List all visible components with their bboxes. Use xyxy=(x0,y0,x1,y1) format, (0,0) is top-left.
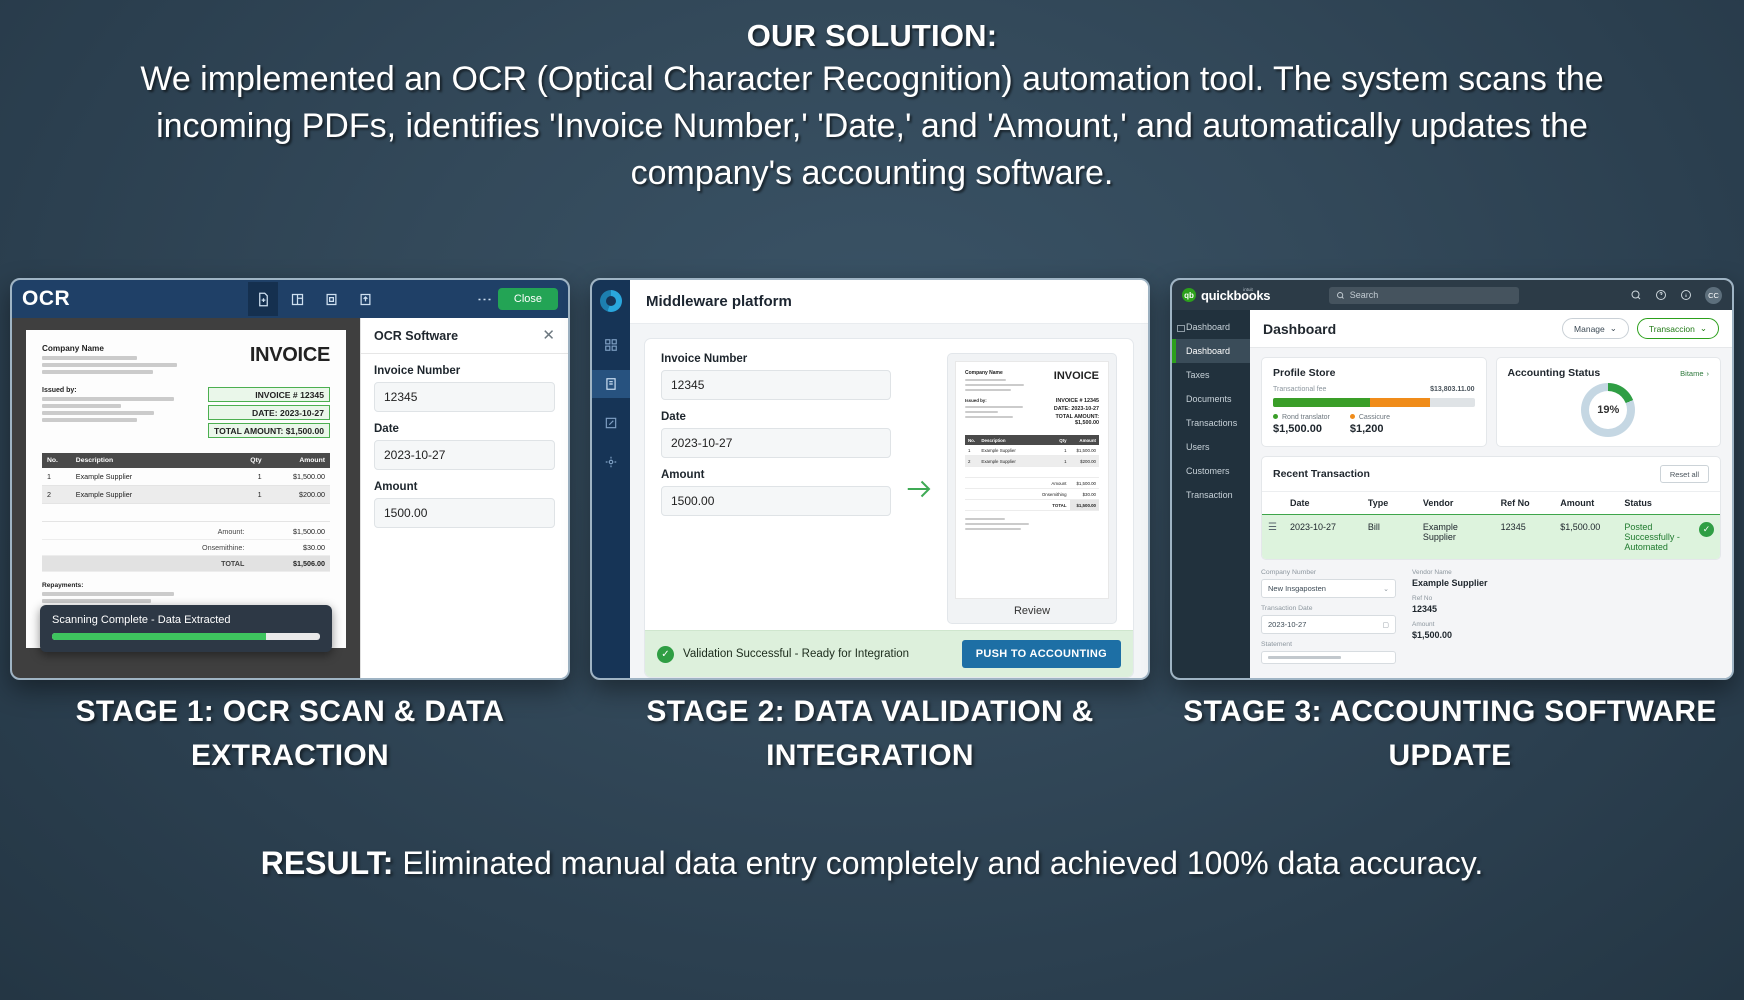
date-input[interactable]: 2023-10-27 xyxy=(374,440,555,470)
total-value: $1,500.00 xyxy=(1070,478,1099,489)
more-options-icon[interactable]: ⋮ xyxy=(480,292,488,307)
ocr-extracted-fields: Invoice Number 12345 Date 2023-10-27 Amo… xyxy=(361,354,568,550)
help-icon[interactable] xyxy=(1655,289,1667,301)
quickbooks-main: Dashboard Manage ⌄ Transaccion ⌄ xyxy=(1250,310,1732,678)
total-row: Amount$1,500.00 xyxy=(965,478,1099,489)
headline-body: We implemented an OCR (Optical Character… xyxy=(0,54,1744,197)
quickbooks-wordmark: quickbooks xyxy=(1201,288,1270,303)
grand-total-row: TOTAL $1,506.00 xyxy=(42,556,330,572)
accounting-status-chart: 19% xyxy=(1508,379,1710,437)
preview-highlight-invoice-number: INVOICE # 12345 xyxy=(1032,398,1099,404)
bar-segment-orange xyxy=(1370,398,1430,407)
table-row: 1 Example Supplier 1 $1,500.00 xyxy=(42,468,330,486)
cell-type: Bill xyxy=(1362,515,1417,560)
legend-value: $1,200 xyxy=(1350,423,1390,435)
transactional-fee-amount: $13,803.11.00 xyxy=(1430,386,1474,393)
field-label-invoice-number: Invoice Number xyxy=(661,353,891,365)
quickbooks-topbar: qb quickbooks intuit Search CC xyxy=(1172,280,1732,310)
ocr-titlebar-right: ⋮ Close xyxy=(480,288,558,310)
intuit-label: intuit xyxy=(1243,287,1253,292)
check-circle-icon: ✓ xyxy=(657,646,674,663)
sidebar-item-customers[interactable]: Customers xyxy=(1172,459,1250,483)
search-placeholder: Search xyxy=(1350,290,1379,300)
legend-value: $1,500.00 xyxy=(1273,423,1330,435)
total-row: Amount: $1,500.00 xyxy=(42,524,330,540)
table-header-row: No. Description Qty Amount xyxy=(42,453,330,468)
ocr-document-viewer: Company Name INVOICE Issued by: xyxy=(12,318,360,680)
dashboard-cards: Profile Store Transactional fee $13,803.… xyxy=(1250,348,1732,447)
ocr-software-title: OCR Software xyxy=(374,329,458,343)
cell-qty: 1 xyxy=(1039,445,1070,456)
cell-description: Example Supplier xyxy=(71,486,227,504)
vendor-name-value: Example Supplier xyxy=(1412,578,1547,588)
validation-text: Validation Successful - Ready for Integr… xyxy=(683,648,909,660)
manage-label: Manage xyxy=(1574,324,1605,334)
preview-issuer-line xyxy=(965,406,1023,408)
preview-issued-by: Issued by: xyxy=(965,398,1029,403)
address-line xyxy=(42,356,137,360)
preview-remarks-line xyxy=(965,528,1021,530)
quickbooks-logo: qb quickbooks intuit xyxy=(1182,288,1285,303)
table-row: 1 Example Supplier 1 $1,500.00 xyxy=(965,445,1099,456)
donut-chart: 19% xyxy=(1581,383,1635,437)
cell-vendor: Example Supplier xyxy=(1417,515,1495,560)
invoice-preview-pane: Company Name INVOICE Issued xyxy=(947,353,1117,624)
ref-no-value: 12345 xyxy=(1412,604,1547,614)
stage2-middleware-window: Middleware platform Invoice Number 12345… xyxy=(590,278,1150,680)
document-icon[interactable] xyxy=(592,370,630,398)
total-label: Amount: xyxy=(42,524,249,540)
legend-dot-orange xyxy=(1350,414,1355,419)
page-title: Dashboard xyxy=(1263,321,1336,337)
middleware-main: Middleware platform Invoice Number 12345… xyxy=(630,280,1148,678)
col-type: Type xyxy=(1362,492,1417,515)
page-header-actions: Manage ⌄ Transaccion ⌄ xyxy=(1562,318,1719,339)
quickbooks-mark-icon: qb xyxy=(1182,288,1196,302)
field-label-date: Date xyxy=(661,411,891,423)
split-view-icon[interactable] xyxy=(282,282,312,316)
preview-address-line xyxy=(965,384,1024,386)
transaction-dropdown[interactable]: Transaccion ⌄ xyxy=(1637,318,1719,339)
middleware-title: Middleware platform xyxy=(630,280,1148,324)
remarks-line xyxy=(42,592,174,596)
cell-amount: $1,500.00 xyxy=(267,468,330,486)
field-label-amount: Amount xyxy=(374,481,555,493)
caption-stage-3: STAGE 3: ACCOUNTING SOFTWARE UPDATE xyxy=(1160,690,1740,777)
sidebar-item-taxes[interactable]: Taxes xyxy=(1172,363,1250,387)
ref-no-label: Ref No xyxy=(1412,595,1547,602)
table-row-empty xyxy=(42,504,330,522)
total-value: $30.00 xyxy=(249,540,330,556)
ocr-highlight-date: DATE: 2023-10-27 xyxy=(208,405,330,420)
invoice-heading: INVOICE xyxy=(250,344,330,367)
detail-form-right: Vendor Name Example Supplier Ref No 1234… xyxy=(1412,569,1547,671)
statement-placeholder xyxy=(1268,656,1341,659)
detail-form-left: Company Number New Insgaposten ⌄ Transac… xyxy=(1261,569,1396,671)
company-number-select[interactable]: New Insgaposten ⌄ xyxy=(1261,579,1396,598)
search-icon[interactable] xyxy=(1630,289,1642,301)
accounting-status-card: Accounting Status Bitame › 19% xyxy=(1496,357,1722,447)
sidebar-item-documents[interactable]: Documents xyxy=(1172,387,1250,411)
cell-ref-no: 12345 xyxy=(1495,515,1555,560)
invoice-totals-table: Amount: $1,500.00 Onsemithine: $30.00 TO… xyxy=(42,524,330,572)
total-value: $1,506.00 xyxy=(249,556,330,572)
cell-no: 1 xyxy=(965,445,978,456)
sidebar-item-transaction[interactable]: Transaction xyxy=(1172,483,1250,507)
amount-label: Amount xyxy=(1412,621,1547,628)
table-header-row: Date Type Vendor Ref No Amount Status xyxy=(1262,492,1720,515)
ocr-toolbar xyxy=(248,282,380,316)
legend-label: Rond translator xyxy=(1282,414,1330,421)
review-label: Review xyxy=(955,599,1109,620)
table-header-row: No. Description Qty Amount xyxy=(965,435,1099,445)
result-prefix: RESULT: xyxy=(261,845,394,881)
stage3-quickbooks-window: qb quickbooks intuit Search CC Dashbo xyxy=(1170,278,1734,680)
arrow-right-icon xyxy=(901,353,937,624)
total-value: $1,500.00 xyxy=(1070,500,1099,511)
transaction-label: Transaccion xyxy=(1649,324,1695,334)
ocr-app-name: OCR xyxy=(22,287,70,311)
chevron-down-icon: ⌄ xyxy=(1383,585,1389,593)
middleware-card: Invoice Number 12345 Date 2023-10-27 Amo… xyxy=(644,338,1134,678)
chevron-right-icon: › xyxy=(1707,369,1710,378)
transaction-date-label: Transaction Date xyxy=(1261,605,1396,612)
col-status: Status xyxy=(1618,492,1693,515)
preview-remarks-line xyxy=(965,523,1029,525)
ocr-body: Company Name INVOICE Issued by: xyxy=(12,318,568,680)
cell-amount: $200.00 xyxy=(267,486,330,504)
issuer-line xyxy=(42,397,174,401)
table-row: 2 Example Supplier 1 $200.00 xyxy=(965,456,1099,467)
legend-label: Cassicure xyxy=(1359,414,1390,421)
col-no: No. xyxy=(42,453,71,468)
issuer-line xyxy=(42,404,121,408)
table-row: 2 Example Supplier 1 $200.00 xyxy=(42,486,330,504)
quickbooks-layout: qb quickbooks intuit Search CC Dashbo xyxy=(1172,280,1732,678)
calendar-icon[interactable]: ▢ xyxy=(1382,621,1389,629)
scan-progress-bar xyxy=(52,633,320,640)
company-number-value: New Insgaposten xyxy=(1268,584,1326,593)
total-label: TOTAL xyxy=(42,556,249,572)
col-qty: Qty xyxy=(1039,435,1070,445)
col-amount: Amount xyxy=(1554,492,1618,515)
accounting-status-title: Accounting Status xyxy=(1508,367,1601,379)
cell-description: Example Supplier xyxy=(71,468,227,486)
link-label: Bitame xyxy=(1680,369,1703,378)
ocr-highlight-total: TOTAL AMOUNT: $1,500.00 xyxy=(208,423,330,438)
ocr-titlebar: OCR ⋮ Close xyxy=(12,280,568,318)
middleware-form: Invoice Number 12345 Date 2023-10-27 Amo… xyxy=(661,353,891,624)
quickbooks-topbar-actions: CC xyxy=(1630,287,1722,304)
total-label: Amount xyxy=(1039,478,1070,489)
cell-amount: $1,500.00 xyxy=(1554,515,1618,560)
quickbooks-body: Dashboard Dashboard Taxes Documents Tran… xyxy=(1172,310,1732,678)
preview-issuer-line xyxy=(965,416,1013,418)
col-date: Date xyxy=(1284,492,1362,515)
total-label: Onsemithine: xyxy=(42,540,249,556)
close-button[interactable]: Close xyxy=(498,288,558,310)
total-label: Onsemithing xyxy=(1039,489,1070,500)
preview-highlight-date: DATE: 2023-10-27 xyxy=(1032,406,1099,412)
date-input[interactable]: 2023-10-27 xyxy=(661,428,891,458)
preview-remarks-line xyxy=(965,518,1005,520)
address-line xyxy=(42,370,153,374)
cell-description: Example Supplier xyxy=(978,445,1038,456)
col-no: No. xyxy=(965,435,978,445)
sidebar-item-users[interactable]: Users xyxy=(1172,435,1250,459)
preview-address-line xyxy=(965,379,1006,381)
sidebar-item-dashboard[interactable]: Dashboard xyxy=(1172,339,1250,363)
stage-panels: OCR ⋮ Close xyxy=(0,278,1744,682)
invoice-number-input[interactable]: 12345 xyxy=(374,382,555,412)
ocr-highlight-invoice-number: INVOICE # 12345 xyxy=(208,387,330,402)
col-amount: Amount xyxy=(267,453,330,468)
profile-store-card: Profile Store Transactional fee $13,803.… xyxy=(1261,357,1487,447)
result-line: RESULT: Eliminated manual data entry com… xyxy=(0,845,1744,882)
check-circle-icon: ✓ xyxy=(1699,522,1714,537)
cell-description: Example Supplier xyxy=(978,456,1038,467)
remarks-line xyxy=(42,599,151,603)
vendor-name-label: Vendor Name xyxy=(1412,569,1547,576)
preview-invoice-heading: INVOICE xyxy=(1054,370,1099,382)
col-vendor: Vendor xyxy=(1417,492,1495,515)
address-line xyxy=(42,363,177,367)
issuer-line xyxy=(42,411,154,415)
chevron-down-icon: ⌄ xyxy=(1610,323,1617,334)
field-label-invoice-number: Invoice Number xyxy=(374,365,555,377)
cell-date: 2023-10-27 xyxy=(1284,515,1362,560)
statement-label: Statement xyxy=(1261,641,1396,648)
preview-address-line xyxy=(965,389,1011,391)
ocr-software-panel: OCR Software ✕ Invoice Number 12345 Date… xyxy=(360,318,568,680)
validation-banner: ✓ Validation Successful - Ready for Inte… xyxy=(645,630,1133,677)
recent-transactions-card: Recent Transaction Reset all Date Type V… xyxy=(1261,456,1721,560)
middleware-layout: Middleware platform Invoice Number 12345… xyxy=(592,280,1148,678)
grand-total-row: TOTAL$1,500.00 xyxy=(965,500,1099,511)
transaction-date-input[interactable]: 2023-10-27 ▢ xyxy=(1261,615,1396,634)
headline-title: OUR SOLUTION: xyxy=(0,18,1744,54)
total-value: $1,500.00 xyxy=(249,524,330,540)
cell-amount: $1,500.00 xyxy=(1070,445,1099,456)
export-icon[interactable] xyxy=(350,282,380,316)
manage-dropdown[interactable]: Manage ⌄ xyxy=(1562,318,1629,339)
recent-transactions-title: Recent Transaction xyxy=(1273,468,1370,480)
chevron-down-icon: ⌄ xyxy=(1700,323,1707,334)
settings-icon[interactable] xyxy=(592,448,630,476)
total-row: Onsemithing$30.00 xyxy=(965,489,1099,500)
amount-input[interactable]: 1500.00 xyxy=(661,486,891,516)
profile-store-title: Profile Store xyxy=(1273,367,1475,379)
recent-transactions-table: Date Type Vendor Ref No Amount Status ☰ … xyxy=(1262,492,1720,559)
amount-value: $1,500.00 xyxy=(1412,630,1547,640)
document-scan-icon[interactable] xyxy=(248,282,278,316)
edit-icon[interactable] xyxy=(592,409,630,437)
field-label-amount: Amount xyxy=(661,469,891,481)
amount-input[interactable]: 1500.00 xyxy=(374,498,555,528)
apps-icon[interactable] xyxy=(592,331,630,359)
caption-stage-1: STAGE 1: OCR SCAN & DATA EXTRACTION xyxy=(0,690,580,777)
stage-captions: STAGE 1: OCR SCAN & DATA EXTRACTION STAG… xyxy=(0,690,1744,777)
sidebar-item-transactions[interactable]: Transactions xyxy=(1172,411,1250,435)
crop-icon[interactable] xyxy=(316,282,346,316)
scan-status-toast: Scanning Complete - Data Extracted xyxy=(40,605,332,652)
preview-company-name: Company Name xyxy=(965,370,1039,376)
caption-stage-2: STAGE 2: DATA VALIDATION & INTEGRATION xyxy=(580,690,1160,777)
total-value: $30.00 xyxy=(1070,489,1099,500)
total-label: TOTAL xyxy=(1039,500,1070,511)
result-text: Eliminated manual data entry completely … xyxy=(393,845,1483,881)
stage1-ocr-window: OCR ⋮ Close xyxy=(10,278,570,680)
close-icon[interactable]: ✕ xyxy=(542,328,555,343)
avatar[interactable]: CC xyxy=(1705,287,1722,304)
company-number-label: Company Number xyxy=(1261,569,1396,576)
drag-handle-icon[interactable]: ☰ xyxy=(1268,522,1277,533)
cell-qty: 1 xyxy=(226,486,266,504)
cell-no: 2 xyxy=(965,456,978,467)
col-ref-no: Ref No xyxy=(1495,492,1555,515)
col-amount: Amount xyxy=(1070,435,1099,445)
transaction-date-value: 2023-10-27 xyxy=(1268,620,1306,629)
headline-block: OUR SOLUTION: We implemented an OCR (Opt… xyxy=(0,0,1744,197)
invoice-number-input[interactable]: 12345 xyxy=(661,370,891,400)
preview-line-items-table: No. Description Qty Amount 1 Example Sup… xyxy=(965,435,1099,511)
transaction-detail-form: Company Number New Insgaposten ⌄ Transac… xyxy=(1250,560,1732,671)
middleware-brand-icon xyxy=(600,290,622,312)
preview-highlight-total: TOTAL AMOUNT: $1,500.00 xyxy=(1032,414,1099,426)
legend-item: Cassicure $1,200 xyxy=(1350,414,1390,435)
col-description: Description xyxy=(978,435,1038,445)
middleware-content: Invoice Number 12345 Date 2023-10-27 Amo… xyxy=(645,339,1133,630)
col-qty: Qty xyxy=(226,453,266,468)
scan-progress-fill xyxy=(52,633,266,640)
field-label-date: Date xyxy=(374,423,555,435)
search-icon xyxy=(1336,291,1345,300)
search-input[interactable]: Search xyxy=(1329,287,1519,304)
cell-status: Posted Successfully - Automated xyxy=(1618,515,1693,560)
issued-by-label: Issued by: xyxy=(42,387,186,394)
invoice-document: Company Name INVOICE Issued by: xyxy=(26,330,346,648)
push-to-accounting-button[interactable]: PUSH TO ACCOUNTING xyxy=(962,640,1121,668)
reset-all-button[interactable]: Reset all xyxy=(1660,465,1709,483)
legend-item: Rond translator $1,500.00 xyxy=(1273,414,1330,435)
scan-status-text: Scanning Complete - Data Extracted xyxy=(52,614,320,626)
cell-no: 2 xyxy=(42,486,71,504)
cell-no: 1 xyxy=(42,468,71,486)
quickbooks-page-header: Dashboard Manage ⌄ Transaccion ⌄ xyxy=(1250,310,1732,348)
middleware-sidebar xyxy=(592,280,630,678)
bar-segment-green xyxy=(1273,398,1370,407)
ocr-software-header: OCR Software ✕ xyxy=(361,318,568,354)
accounting-status-link[interactable]: Bitame › xyxy=(1680,369,1709,378)
table-row[interactable]: ☰ 2023-10-27 Bill Example Supplier 12345… xyxy=(1262,515,1720,560)
cell-qty: 1 xyxy=(1039,456,1070,467)
quickbooks-sidebar: Dashboard Dashboard Taxes Documents Tran… xyxy=(1172,310,1250,678)
profile-store-legend: Rond translator $1,500.00 Cassicure $1,2… xyxy=(1273,414,1475,435)
info-icon[interactable] xyxy=(1680,289,1692,301)
statement-input[interactable] xyxy=(1261,651,1396,664)
col-description: Description xyxy=(71,453,227,468)
donut-percent-label: 19% xyxy=(1597,404,1619,416)
remarks-title: Repayments: xyxy=(42,582,330,589)
legend-dot-green xyxy=(1273,414,1278,419)
cell-amount: $200.00 xyxy=(1070,456,1099,467)
preview-issuer-line xyxy=(965,411,998,413)
recent-transactions-header: Recent Transaction Reset all xyxy=(1262,457,1720,492)
invoice-preview-document: Company Name INVOICE Issued xyxy=(955,361,1109,599)
table-row-empty xyxy=(965,467,1099,478)
transactional-fee-label: Transactional fee xyxy=(1273,386,1326,393)
issuer-line xyxy=(42,418,137,422)
sidebar-item-dashboard-top[interactable]: Dashboard xyxy=(1172,315,1250,339)
invoice-line-items-table: No. Description Qty Amount 1 Example Sup… xyxy=(42,453,330,522)
profile-store-stacked-bar xyxy=(1273,398,1475,407)
cell-qty: 1 xyxy=(226,468,266,486)
invoice-company-name: Company Name xyxy=(42,344,200,353)
total-row: Onsemithine: $30.00 xyxy=(42,540,330,556)
